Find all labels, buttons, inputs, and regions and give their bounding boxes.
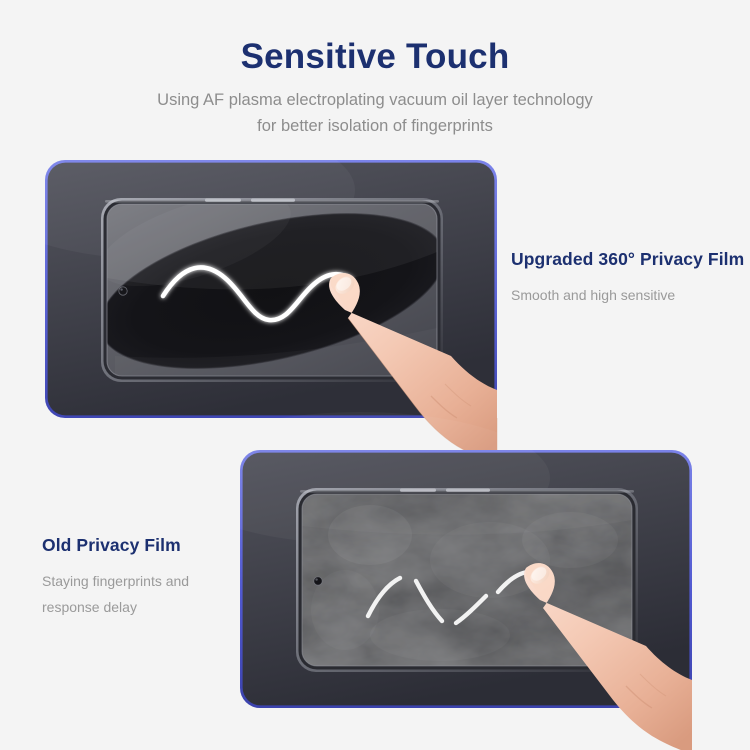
callout-old-subtitle-line-1: Staying fingerprints and [42,569,189,595]
product-feature-graphic: Sensitive Touch Using AF plasma electrop… [0,0,750,750]
callout-upgraded-film: Upgraded 360° Privacy Film Smooth and hi… [511,249,744,309]
callout-old-film: Old Privacy Film Staying fingerprints an… [42,535,189,621]
panel-upgraded-film [45,160,497,418]
callout-upgraded-subtitle: Smooth and high sensitive [511,283,744,309]
page-title: Sensitive Touch [0,37,750,77]
panel-old-film [240,450,692,708]
header: Sensitive Touch Using AF plasma electrop… [0,0,750,139]
callout-upgraded-title: Upgraded 360° Privacy Film [511,249,744,270]
callout-old-title: Old Privacy Film [42,535,189,556]
header-subtitle-line-1: Using AF plasma electroplating vacuum oi… [0,88,750,114]
callout-old-subtitle-line-2: response delay [42,595,189,621]
